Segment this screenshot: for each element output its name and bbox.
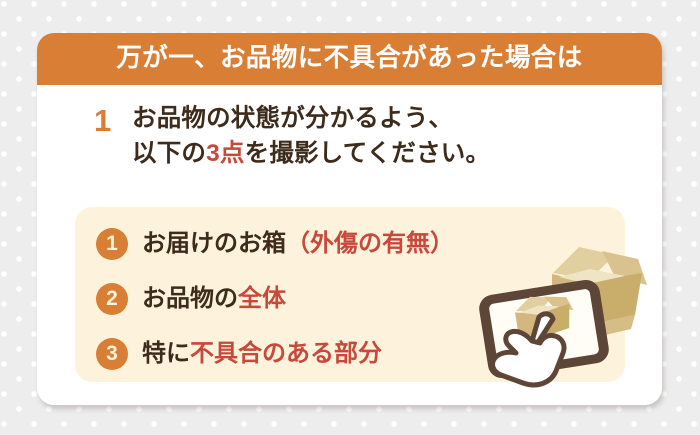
list-item-3-highlight: 不具合のある部分	[190, 340, 382, 367]
step-line-2-after: を撮影してください。	[245, 140, 491, 167]
list-item-3-plain: 特に	[142, 340, 190, 367]
list-item: 1 お届けのお箱（外傷の有無）	[96, 216, 526, 271]
camera-box-illustration	[475, 229, 655, 389]
list-item-2-highlight: 全体	[238, 285, 286, 312]
list-item-badge-2: 2	[96, 283, 128, 315]
step-instruction-text: お品物の状態が分かるよう、 以下の3点を撮影してください。	[132, 102, 490, 172]
step-line-1: お品物の状態が分かるよう、	[132, 102, 490, 137]
list-item-badge-3: 3	[96, 338, 128, 370]
list-item-text-3: 特に不具合のある部分	[142, 342, 382, 366]
step-block: 1 お品物の状態が分かるよう、 以下の3点を撮影してください。	[37, 85, 662, 172]
list-item-1-highlight: （外傷の有無）	[286, 230, 454, 257]
step-line-2-before: 以下の	[132, 140, 206, 167]
header-title: 万が一、お品物に不具合があった場合は	[116, 46, 582, 72]
list-item-text-1: お届けのお箱（外傷の有無）	[142, 232, 454, 256]
list-item-badge-1: 1	[96, 228, 128, 260]
photo-checklist-list: 1 お届けのお箱（外傷の有無） 2 お品物の全体 3 特に不具合のある部分	[96, 216, 526, 381]
step-line-2-highlight: 3点	[206, 140, 245, 167]
list-item-1-plain: お届けのお箱	[142, 230, 286, 257]
list-item-2-plain: お品物の	[142, 285, 238, 312]
step-line-2: 以下の3点を撮影してください。	[132, 137, 490, 172]
info-card: 万が一、お品物に不具合があった場合は 1 お品物の状態が分かるよう、 以下の3点…	[37, 33, 662, 405]
card-header-bar: 万が一、お品物に不具合があった場合は	[37, 33, 662, 85]
step-number: 1	[94, 105, 132, 136]
list-item: 2 お品物の全体	[96, 271, 526, 326]
list-item: 3 特に不具合のある部分	[96, 326, 526, 381]
list-item-text-2: お品物の全体	[142, 287, 286, 311]
